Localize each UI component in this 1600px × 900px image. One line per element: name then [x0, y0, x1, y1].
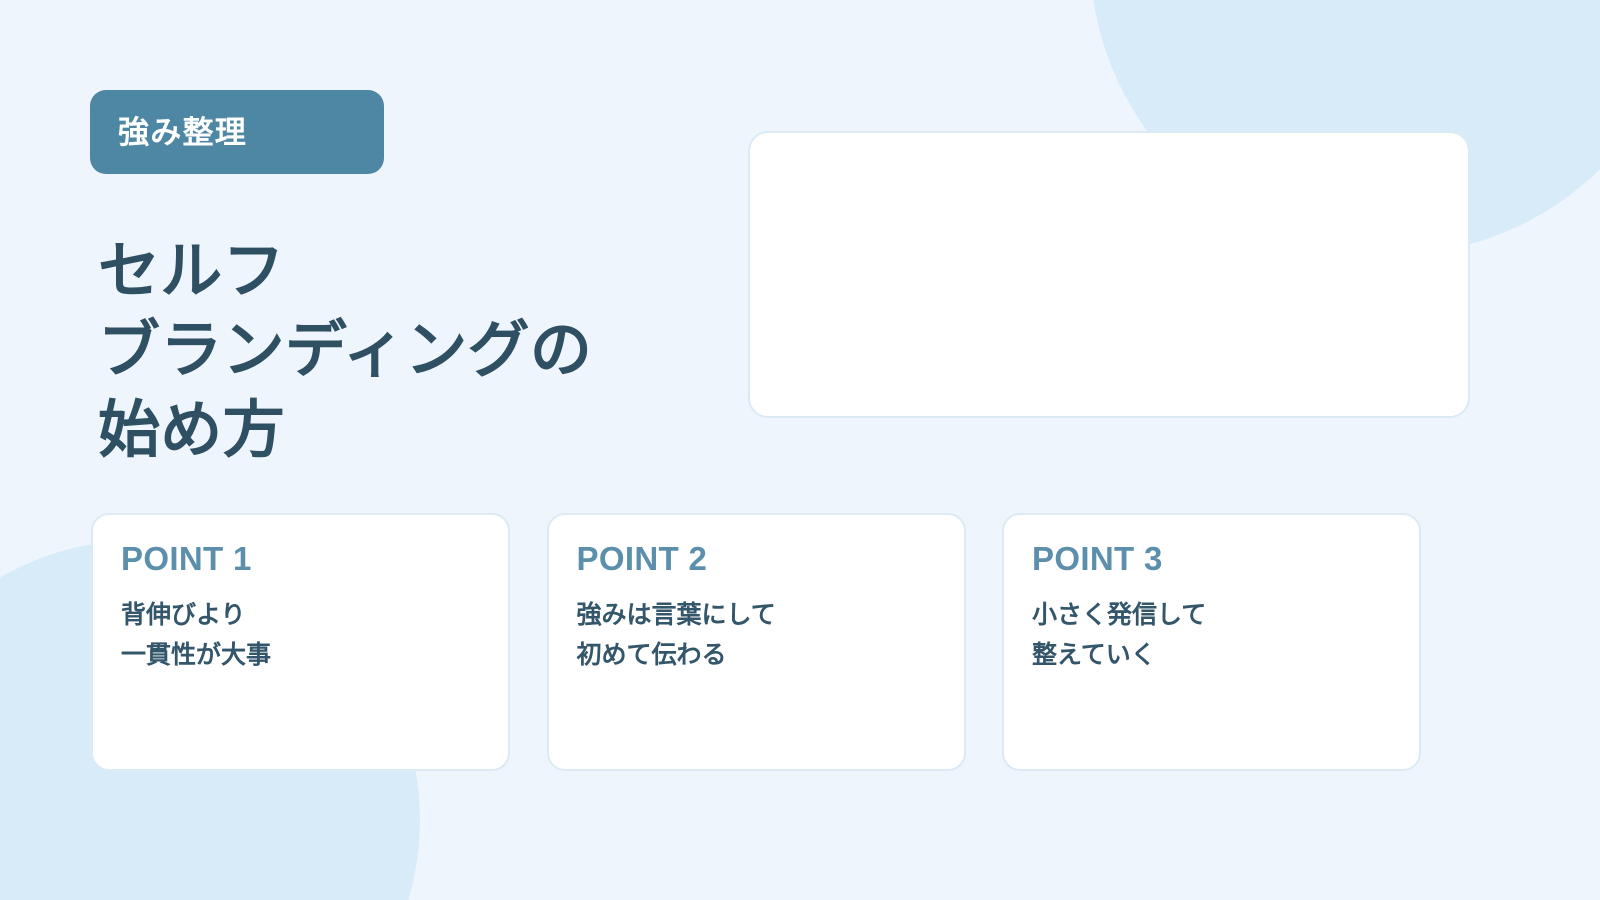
page-title-line-2: ブランディングの: [98, 311, 698, 390]
point-card-2-body-line-2: 初めて伝わる: [577, 635, 936, 675]
point-card-1-kicker: POINT 1: [121, 541, 480, 577]
point-card-2-body-line-1: 強みは言葉にして: [577, 595, 936, 635]
point-card-1-body-line-2: 一貫性が大事: [121, 635, 480, 675]
category-badge-label: 強み整理: [118, 117, 247, 148]
point-card-3-body-line-2: 整えていく: [1032, 635, 1391, 675]
point-card-2-kicker: POINT 2: [577, 541, 936, 577]
point-card-3-body-line-1: 小さく発信して: [1032, 595, 1391, 635]
point-card-1-body: 背伸びより 一貫性が大事: [121, 595, 480, 675]
point-card-2-body: 強みは言葉にして 初めて伝わる: [577, 595, 936, 675]
point-card-3-kicker: POINT 3: [1032, 541, 1391, 577]
page-title-line-3: 始め方: [98, 391, 698, 470]
point-card-1: POINT 1 背伸びより 一貫性が大事: [91, 513, 510, 771]
point-card-2: POINT 2 強みは言葉にして 初めて伝わる: [547, 513, 966, 771]
hero-image-placeholder: [748, 131, 1470, 418]
point-card-list: POINT 1 背伸びより 一貫性が大事 POINT 2 強みは言葉にして 初め…: [91, 513, 1421, 771]
slide-canvas: 強み整理 セルフ ブランディングの 始め方 POINT 1 背伸びより 一貫性が…: [0, 0, 1600, 900]
page-title: セルフ ブランディングの 始め方: [98, 232, 698, 470]
point-card-3: POINT 3 小さく発信して 整えていく: [1002, 513, 1421, 771]
category-badge: 強み整理: [90, 90, 384, 174]
page-title-line-1: セルフ: [98, 232, 698, 311]
point-card-3-body: 小さく発信して 整えていく: [1032, 595, 1391, 675]
point-card-1-body-line-1: 背伸びより: [121, 595, 480, 635]
